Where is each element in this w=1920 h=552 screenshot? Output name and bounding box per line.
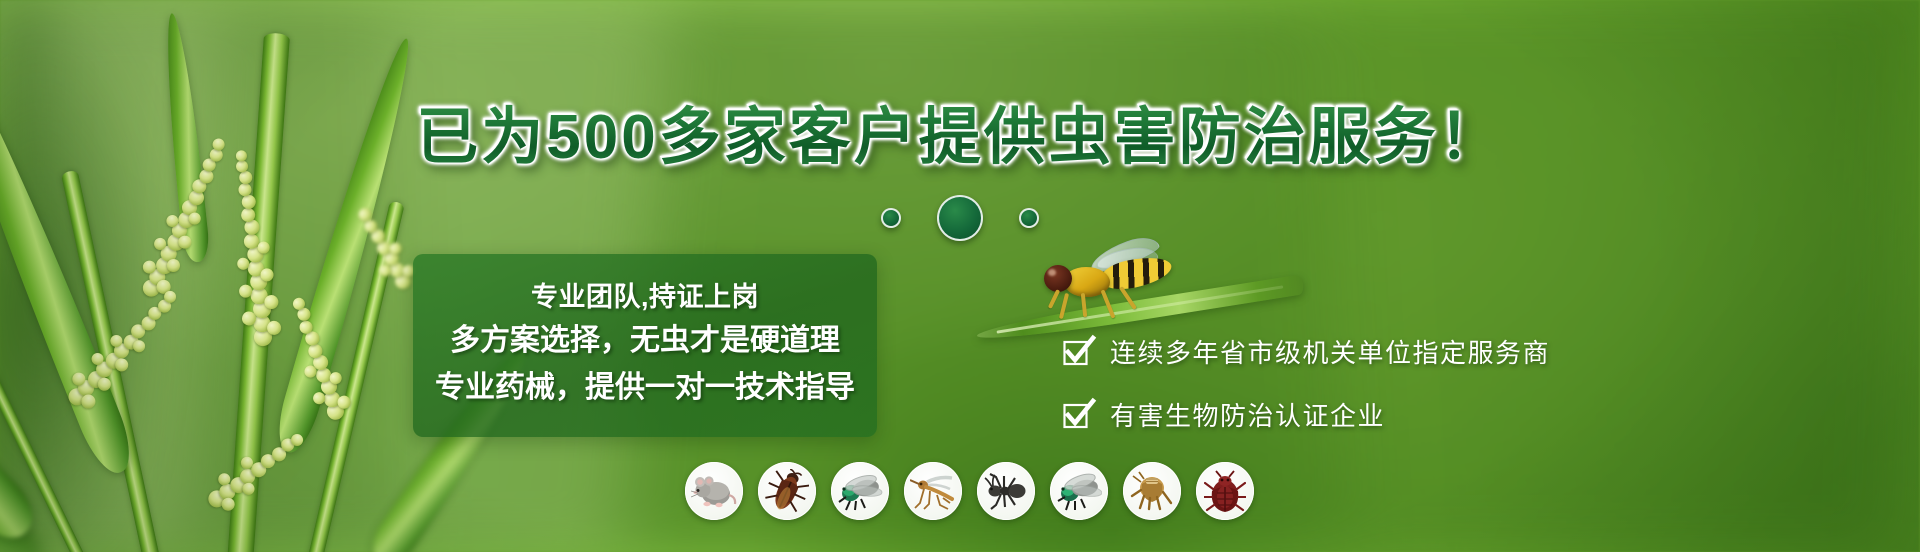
selling-points-panel: 专业团队,持证上岗 多方案选择，无虫才是硬道理 专业药械，提供一对一技术指导 — [413, 254, 877, 437]
insect-leg — [1059, 293, 1069, 319]
dot-small-left — [881, 208, 901, 228]
blowfly-icon[interactable]: 绿头蝇 — [1050, 462, 1108, 520]
banner-headline: 已为500多家客户提供虫害防治服务！ — [0, 86, 1920, 176]
credentials-list: 连续多年省市级机关单位指定服务商 有害生物防治认证企业 — [1063, 333, 1550, 433]
flea-icon[interactable]: 跳蚤 — [1123, 462, 1181, 520]
dot-small-right — [1019, 208, 1039, 228]
pest-types-row: 鼠 蟑螂 — [685, 462, 1254, 520]
fly-icon[interactable]: 蝇 — [831, 462, 889, 520]
insect-eye — [1048, 269, 1056, 276]
list-item-label: 有害生物防治认证企业 — [1110, 396, 1385, 433]
bedbug-icon[interactable]: 臭虫 — [1196, 462, 1254, 520]
checkbox-checked-icon — [1063, 400, 1093, 430]
list-item: 连续多年省市级机关单位指定服务商 — [1063, 333, 1550, 370]
insect-leg — [1101, 289, 1116, 318]
insect-leg — [1119, 286, 1137, 310]
panel-line-2: 多方案选择，无虫才是硬道理 — [450, 320, 840, 363]
dot-large-center — [937, 195, 983, 241]
mouse-icon[interactable]: 鼠 — [685, 462, 743, 520]
cockroach-icon[interactable]: 蟑螂 — [758, 462, 816, 520]
decorative-dots — [881, 195, 1039, 241]
hoverfly-icon — [1030, 245, 1180, 325]
panel-line-1: 专业团队,持证上岗 — [531, 278, 759, 316]
checkbox-checked-icon — [1063, 337, 1093, 367]
ant-icon[interactable]: 蚂蚁 — [977, 462, 1035, 520]
list-item-label: 连续多年省市级机关单位指定服务商 — [1110, 333, 1550, 370]
panel-line-3: 专业药械，提供一对一技术指导 — [435, 367, 855, 410]
mosquito-icon[interactable]: 蚊 — [904, 462, 962, 520]
pest-control-banner: 已为500多家客户提供虫害防治服务！ 专业团队,持证上岗 多方案选择，无虫才是硬… — [0, 0, 1920, 552]
insect-leg — [1048, 289, 1060, 309]
list-item: 有害生物防治认证企业 — [1063, 396, 1550, 433]
